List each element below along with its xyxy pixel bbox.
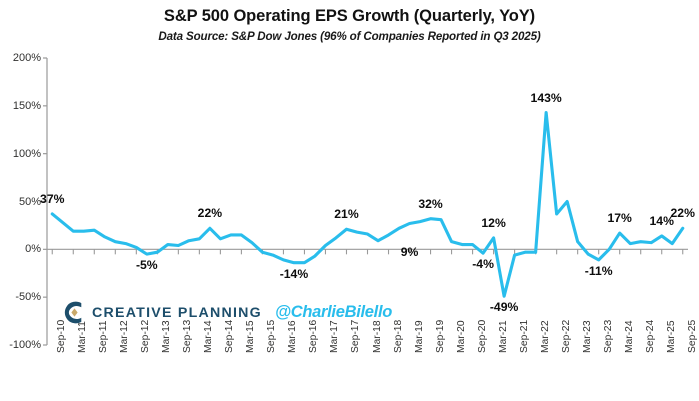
x-axis-tick-label: Mar-20 [456, 320, 467, 353]
x-axis-tick-label: Sep-21 [519, 320, 530, 353]
x-axis-tick-label: Mar-16 [287, 320, 298, 353]
x-axis-tick-label: Sep-18 [393, 320, 404, 353]
x-axis-tick-label: Sep-16 [308, 320, 319, 353]
data-point-label: 22% [671, 206, 695, 220]
y-axis-tick-label: 200% [0, 52, 41, 64]
x-axis-tick-label: Mar-13 [161, 320, 172, 353]
data-point-label: 143% [531, 91, 562, 105]
x-axis-tick-label: Sep-23 [603, 320, 614, 353]
data-point-label: 32% [418, 197, 442, 211]
x-axis-tick-label: Sep-14 [224, 320, 235, 353]
x-axis-tick-label: Sep-15 [266, 320, 277, 353]
x-axis-tick-label: Sep-17 [350, 320, 361, 353]
logo-text: CREATIVE PLANNING [92, 305, 262, 321]
x-axis-tick-label: Sep-25 [687, 320, 698, 353]
y-axis-tick-label: -50% [0, 291, 41, 303]
author-handle: @CharlieBilello [275, 303, 392, 322]
data-point-label: -5% [136, 258, 158, 272]
x-axis-tick-label: Mar-25 [666, 320, 677, 353]
data-point-label: -14% [280, 267, 308, 281]
chart-container: S&P 500 Operating EPS Growth (Quarterly,… [0, 0, 699, 401]
data-point-label: 22% [198, 206, 222, 220]
y-axis-tick-label: -100% [0, 339, 41, 351]
y-axis-tick-label: 100% [0, 148, 41, 160]
data-point-label: 21% [334, 207, 358, 221]
data-point-label: 12% [481, 216, 505, 230]
data-point-label: 37% [40, 192, 64, 206]
x-axis-tick-label: Sep-12 [140, 320, 151, 353]
x-axis-tick-label: Mar-19 [414, 320, 425, 353]
x-axis-tick-label: Sep-19 [435, 320, 446, 353]
y-axis-tick-label: 50% [0, 196, 41, 208]
x-axis-tick-label: Mar-18 [372, 320, 383, 353]
data-point-label: -49% [490, 300, 518, 314]
data-point-label: -11% [585, 264, 613, 278]
y-axis-tick-label: 0% [0, 243, 41, 255]
x-axis-tick-label: Mar-14 [203, 320, 214, 353]
x-axis-tick-label: Mar-15 [245, 320, 256, 353]
branding-watermark: CREATIVE PLANNING @CharlieBilello [64, 301, 392, 324]
data-point-label: -4% [472, 257, 494, 271]
x-axis-tick-label: Mar-21 [498, 320, 509, 353]
y-axis-tick-label: 150% [0, 100, 41, 112]
x-axis-tick-label: Mar-23 [582, 320, 593, 353]
x-axis-tick-label: Mar-22 [540, 320, 551, 353]
x-axis-tick-label: Mar-17 [329, 320, 340, 353]
x-axis-tick-label: Sep-11 [98, 321, 109, 353]
creative-planning-logo-icon [64, 301, 85, 324]
data-point-label: 17% [607, 211, 631, 225]
x-axis-tick-label: Sep-10 [56, 320, 67, 353]
x-axis-tick-label: Sep-20 [477, 320, 488, 353]
x-axis-tick-label: Mar-24 [624, 320, 635, 353]
x-axis-tick-label: Sep-13 [182, 320, 193, 353]
x-axis-tick-label: Mar-12 [119, 320, 130, 353]
x-axis-tick-label: Sep-24 [645, 320, 656, 353]
x-axis-tick-label: Mar-11 [77, 321, 88, 353]
data-point-label: 9% [401, 245, 419, 259]
x-axis-tick-label: Sep-22 [561, 320, 572, 353]
